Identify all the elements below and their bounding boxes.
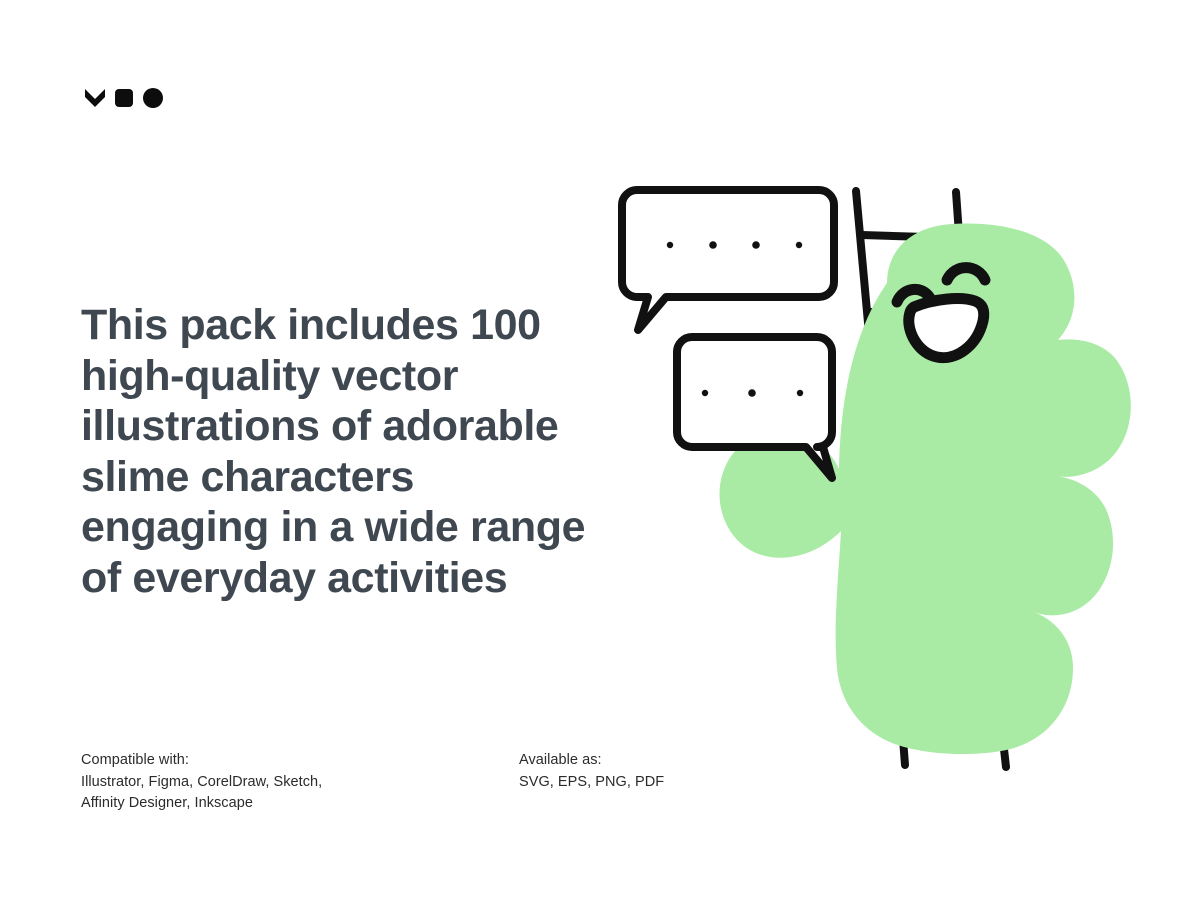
chevron-icon xyxy=(85,89,105,107)
compatible-with-block: Compatible with: Illustrator, Figma, Cor… xyxy=(81,750,481,815)
hero-illustration xyxy=(600,160,1160,800)
logo-shapes-icon xyxy=(83,83,183,113)
brand-logo xyxy=(83,82,183,114)
rounded-square-icon xyxy=(115,89,133,107)
compatible-with-label: Compatible with: xyxy=(81,750,481,772)
slime-character-icon xyxy=(720,224,1131,755)
speech-bubble-top-shape xyxy=(622,190,834,330)
slime-mouth xyxy=(909,299,984,358)
compatible-with-value: Illustrator, Figma, CorelDraw, Sketch, A… xyxy=(81,772,481,815)
circle-icon xyxy=(143,88,163,108)
speech-bubble-top-icon xyxy=(622,190,834,330)
slime-scene-icon xyxy=(600,160,1160,800)
page-headline: This pack includes 100 high-quality vect… xyxy=(81,300,601,603)
promo-page: This pack includes 100 high-quality vect… xyxy=(0,0,1200,907)
